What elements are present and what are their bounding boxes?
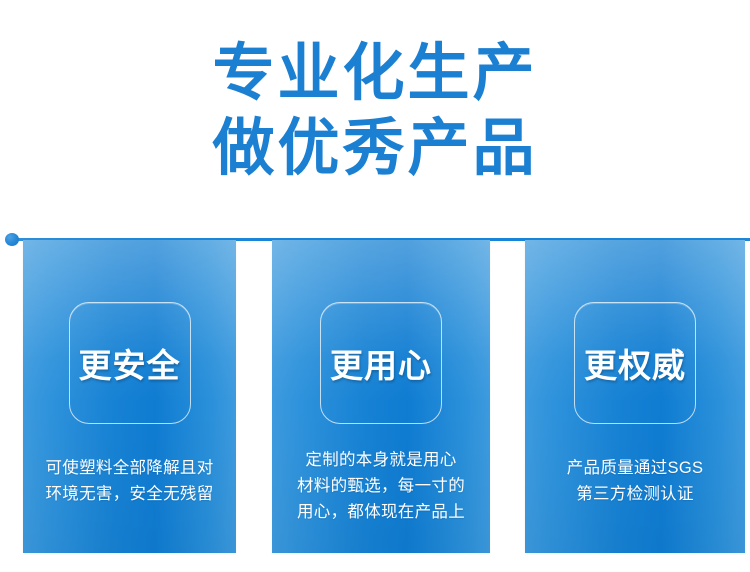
feature-description-line: 材料的甄选，每一寸的 <box>278 473 484 499</box>
feature-banner[interactable]: 更安全 可使塑料全部降解且对 环境无害，安全无残留 <box>23 240 236 553</box>
feature-badge-label: 更权威 <box>584 339 686 387</box>
feature-description-line: 用心，都体现在产品上 <box>278 499 484 525</box>
feature-badge-label: 更安全 <box>79 339 181 387</box>
feature-description: 定制的本身就是用心 材料的甄选，每一寸的 用心，都体现在产品上 <box>278 447 484 525</box>
feature-description-line: 可使塑料全部降解且对 <box>29 455 230 481</box>
page-title-line-2: 做优秀产品 <box>0 117 750 180</box>
feature-description: 产品质量通过SGS 第三方检测认证 <box>531 455 739 507</box>
feature-banner[interactable]: 更用心 定制的本身就是用心 材料的甄选，每一寸的 用心，都体现在产品上 <box>272 240 490 553</box>
feature-description-line: 定制的本身就是用心 <box>278 447 484 473</box>
feature-description-line: 第三方检测认证 <box>531 481 739 507</box>
feature-banner[interactable]: 更权威 产品质量通过SGS 第三方检测认证 <box>525 240 745 553</box>
feature-badge: 更安全 <box>69 302 191 424</box>
feature-badge: 更权威 <box>574 302 696 424</box>
feature-description: 可使塑料全部降解且对 环境无害，安全无残留 <box>29 455 230 507</box>
feature-description-line: 环境无害，安全无残留 <box>29 481 230 507</box>
feature-badge-label: 更用心 <box>330 339 432 387</box>
feature-badge: 更用心 <box>320 302 442 424</box>
feature-description-line: 产品质量通过SGS <box>531 455 739 481</box>
promo-page: 专业化生产 做优秀产品 更安全 可使塑料全部降解且对 环境无害，安全无残留 更用… <box>0 0 750 572</box>
feature-banner-group: 更安全 可使塑料全部降解且对 环境无害，安全无残留 更用心 定制的本身就是用心 … <box>0 240 750 560</box>
page-title-line-1: 专业化生产 <box>0 42 750 105</box>
page-title: 专业化生产 做优秀产品 <box>0 42 750 180</box>
